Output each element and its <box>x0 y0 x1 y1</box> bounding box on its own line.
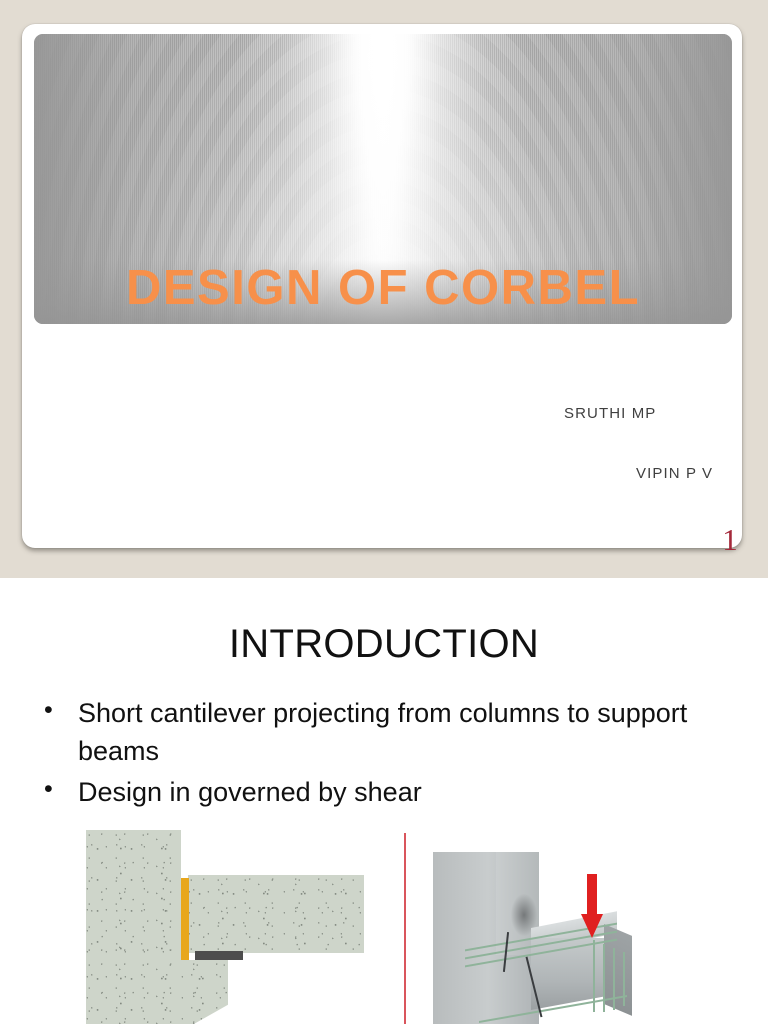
slide2-bullet-list: Short cantilever projecting from columns… <box>36 694 726 813</box>
slide2-title: INTRODUCTION <box>0 624 768 664</box>
slide2-card: INTRODUCTION Short cantilever projecting… <box>0 578 768 1024</box>
bullet-item: Design in governed by shear <box>36 773 726 811</box>
slide1-background-band: DESIGN OF CORBEL SRUTHI MP VIPIN P V 1 <box>0 0 768 578</box>
corbel-3d-render <box>433 852 643 1024</box>
author-name-1: SRUTHI MP <box>564 405 656 422</box>
column-lower-corbel-concrete <box>86 960 228 1024</box>
load-arrow-shaft <box>587 874 597 916</box>
rebar-stirrup <box>603 944 605 1012</box>
bearing-pad <box>195 951 243 960</box>
slide1-page-number: 1 <box>710 524 750 555</box>
rebar-stirrup <box>623 952 625 1006</box>
slide2-figure-area <box>0 830 768 1024</box>
slide1-title: DESIGN OF CORBEL <box>34 263 732 314</box>
load-arrow-icon <box>581 874 603 938</box>
load-arrow-head <box>581 914 603 938</box>
title-header-panel: DESIGN OF CORBEL <box>34 34 732 324</box>
bearing-strip <box>181 878 189 960</box>
author-name-2: VIPIN P V <box>636 465 713 482</box>
beam-concrete <box>188 875 364 953</box>
bullet-item: Short cantilever projecting from columns… <box>36 694 726 771</box>
slides-page: DESIGN OF CORBEL SRUTHI MP VIPIN P V 1 I… <box>0 0 768 1024</box>
rebar-stirrup <box>593 940 595 1012</box>
slide1-card: DESIGN OF CORBEL SRUTHI MP VIPIN P V 1 <box>22 24 742 548</box>
column-upper-concrete <box>86 830 181 960</box>
rebar-stirrup <box>613 948 615 1010</box>
figure-divider-line <box>404 833 406 1024</box>
corbel-section-diagram <box>86 830 364 1024</box>
render-corbel-side-face <box>604 924 632 1016</box>
